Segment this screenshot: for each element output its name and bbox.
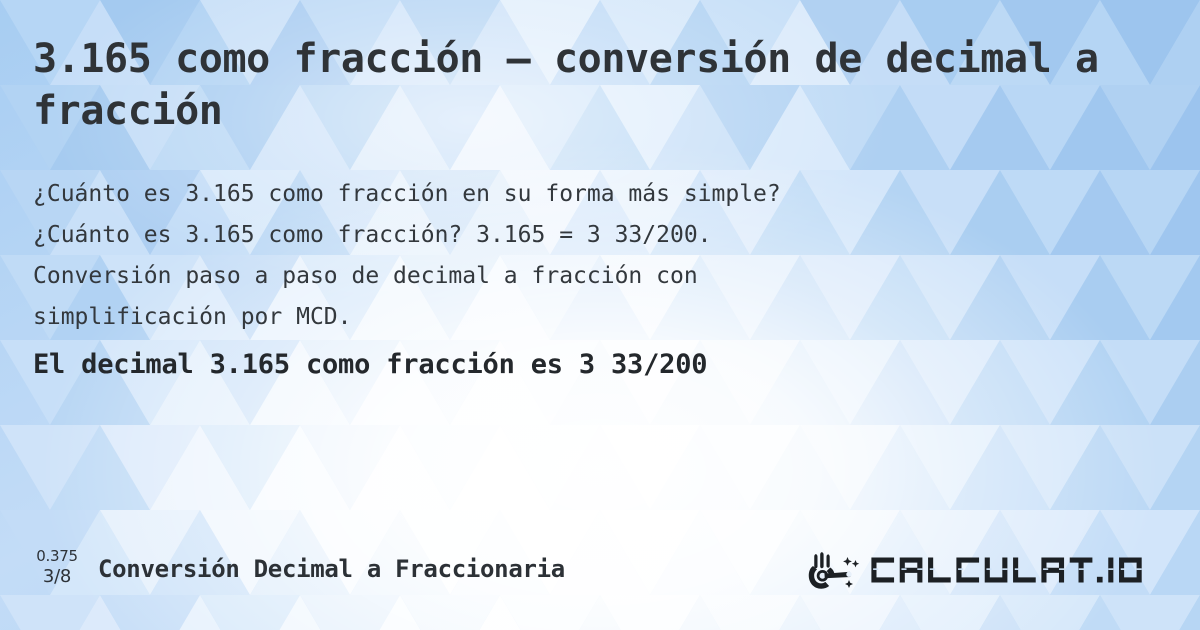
answer-statement: El decimal 3.165 como fracción es 3 33/2… bbox=[33, 348, 707, 382]
description-block: ¿Cuánto es 3.165 como fracción en su for… bbox=[33, 174, 1123, 338]
description-line-3: Conversión paso a paso de decimal a frac… bbox=[33, 256, 1123, 297]
calculatio-wordmark bbox=[868, 553, 1185, 587]
favicon-decimal-label: 0.375 bbox=[26, 547, 88, 566]
magic-wand-hand-icon bbox=[808, 551, 862, 589]
description-line-1: ¿Cuánto es 3.165 como fracción en su for… bbox=[33, 174, 1123, 215]
fraction-favicon-icon: 0.375 3/8 bbox=[26, 547, 88, 593]
favicon-fraction-label: 3/8 bbox=[26, 566, 88, 587]
site-section-title: Conversión Decimal a Fraccionaria bbox=[98, 552, 565, 586]
card-footer: 0.375 3/8 Conversión Decimal a Fracciona… bbox=[0, 530, 1200, 630]
social-card: 3.165 como fracción – conversión de deci… bbox=[0, 0, 1200, 630]
calculatio-logo[interactable] bbox=[808, 548, 1185, 592]
description-line-2: ¿Cuánto es 3.165 como fracción? 3.165 = … bbox=[33, 215, 1123, 256]
description-line-4: simplificación por MCD. bbox=[33, 297, 1123, 338]
card-content: 3.165 como fracción – conversión de deci… bbox=[0, 0, 1200, 630]
page-title: 3.165 como fracción – conversión de deci… bbox=[33, 33, 1113, 137]
